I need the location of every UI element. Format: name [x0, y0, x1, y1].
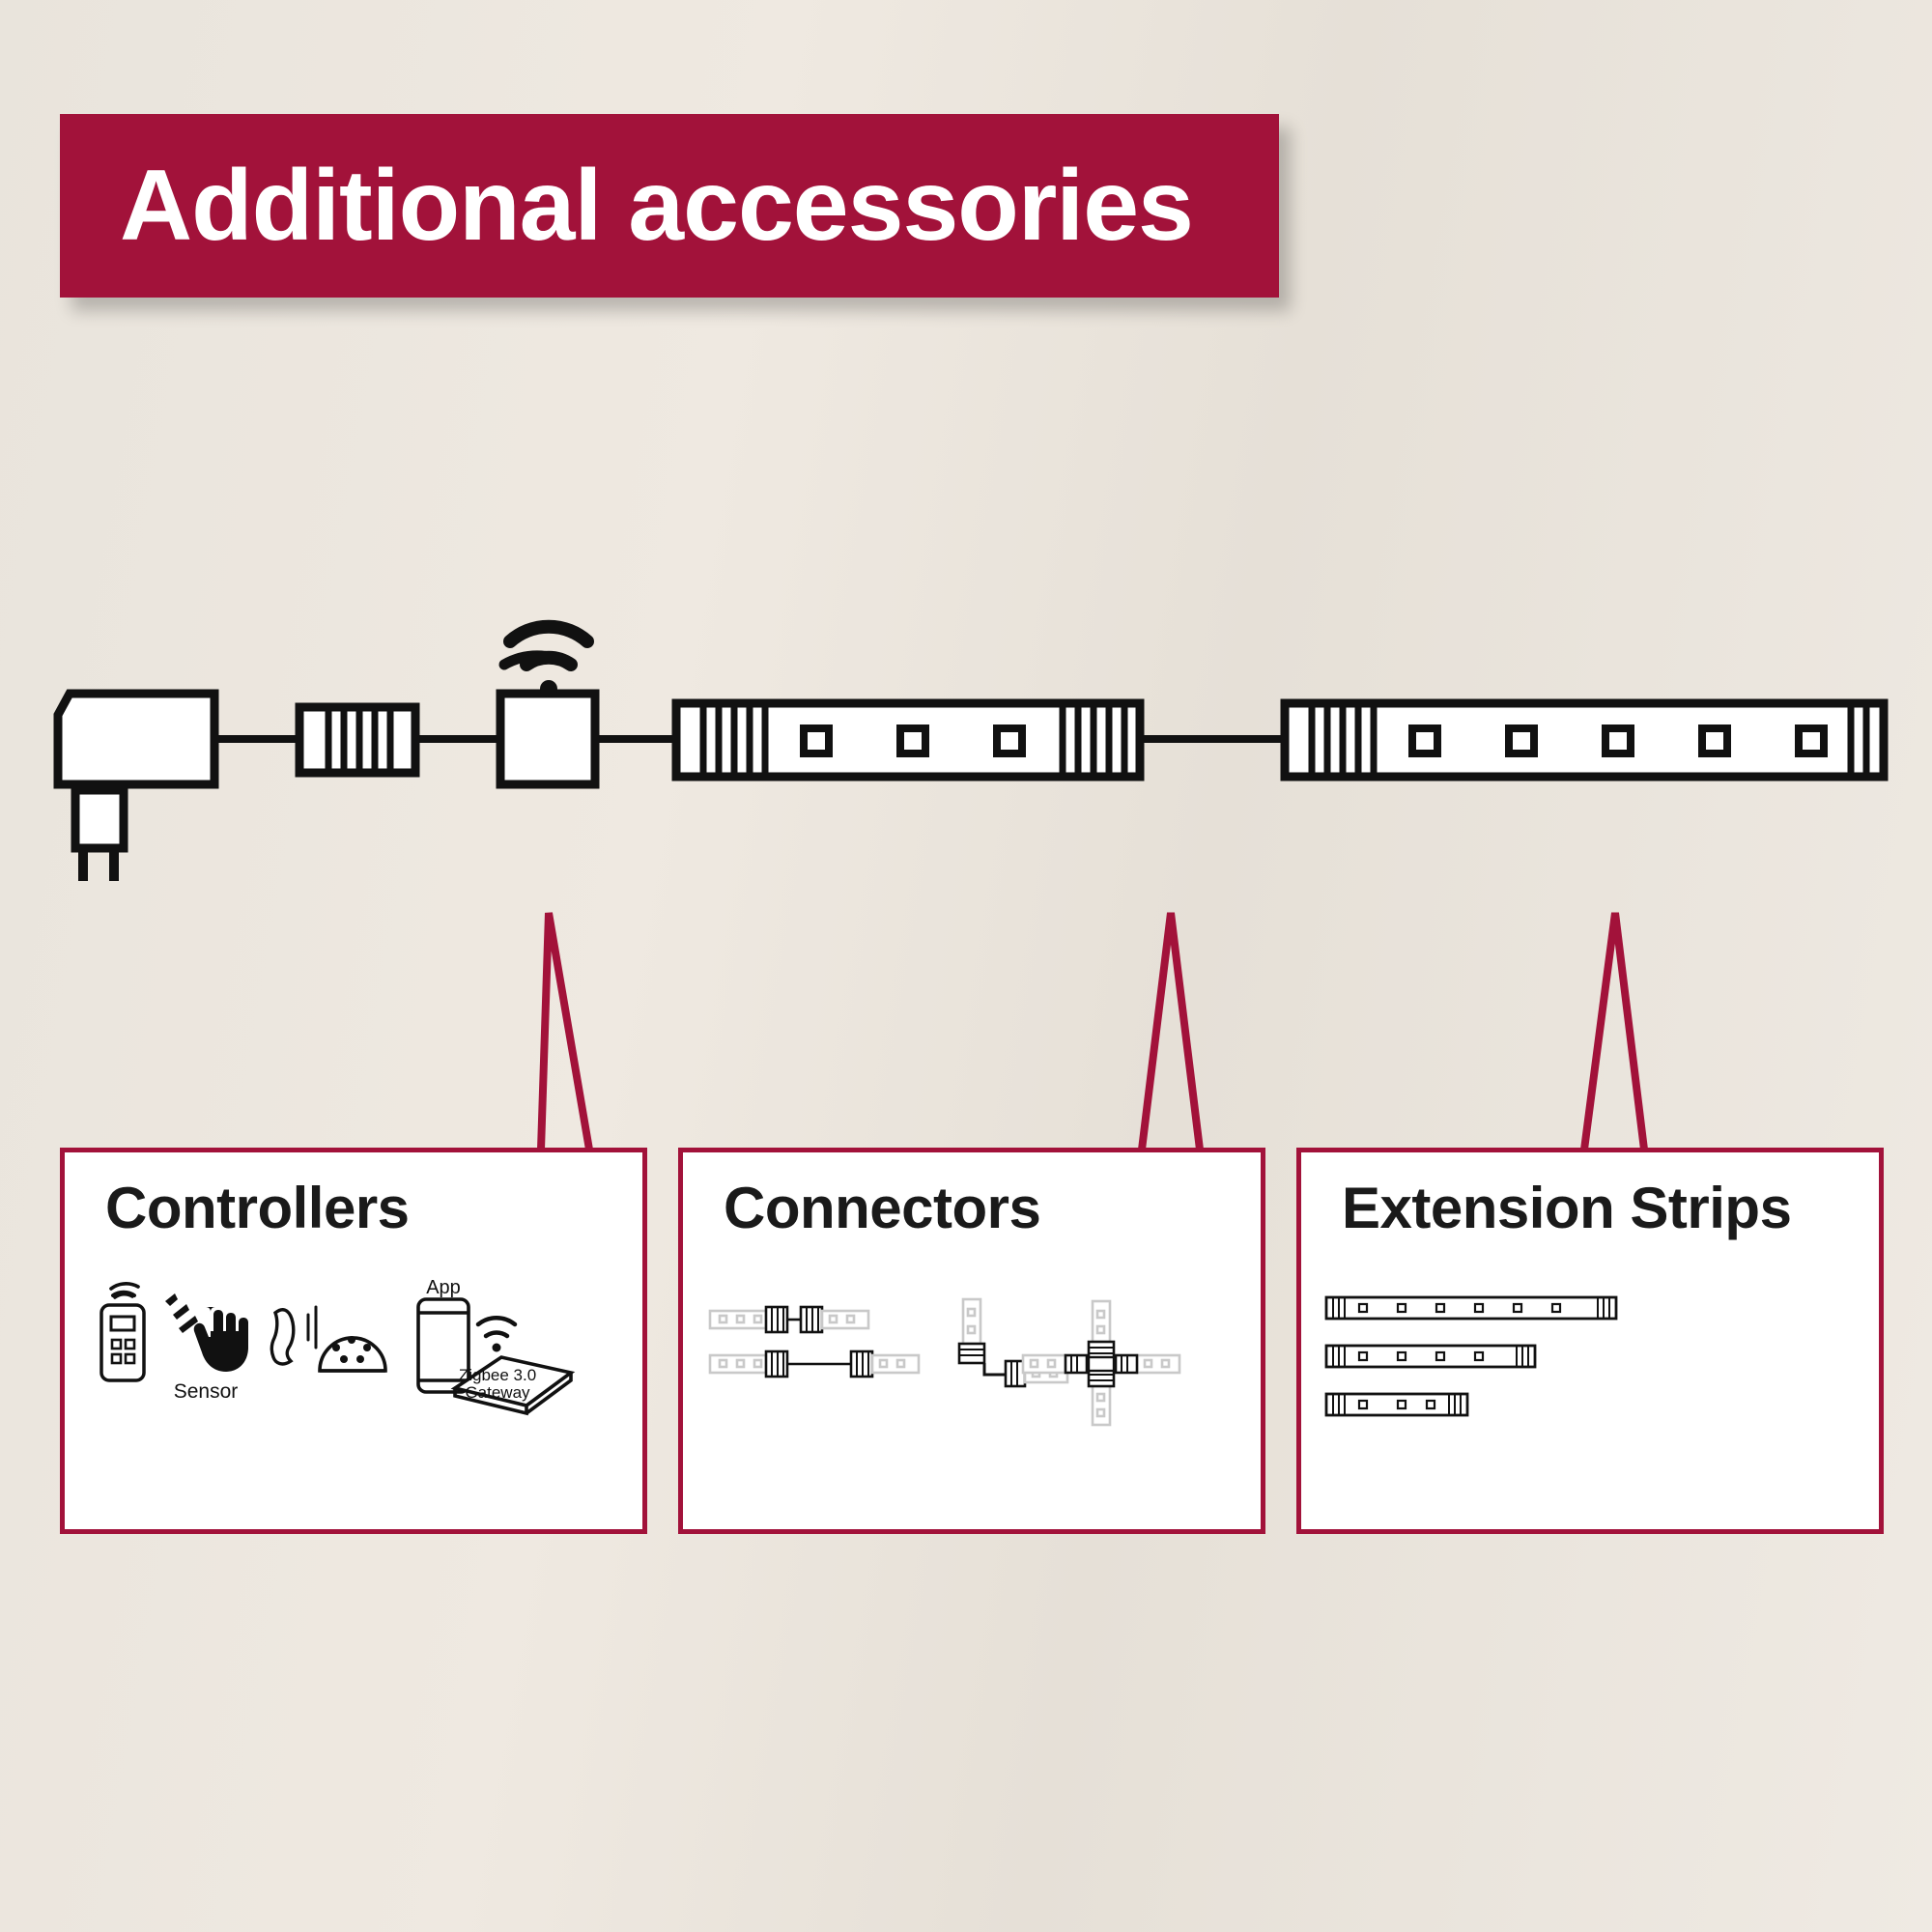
strip-to-strip-cable-connector-icon: [710, 1307, 919, 1377]
gateway-label-line2: Gateway: [465, 1383, 530, 1402]
app-wifi-icon: [478, 1318, 515, 1351]
motion-sensor-hand-icon: [165, 1293, 248, 1372]
extension-strip-long-icon: [1326, 1297, 1616, 1319]
wireless-controller-box: [500, 694, 595, 784]
pointer-strips: [1584, 913, 1644, 1150]
wifi-icon-arcs: [510, 627, 587, 697]
cross-connector-icon: [1023, 1301, 1179, 1425]
callout-body-connectors: [683, 1264, 1261, 1438]
callout-controllers[interactable]: Controllers: [60, 1148, 647, 1534]
callout-extension-strips[interactable]: Extension Strips: [1296, 1148, 1884, 1534]
extension-strip-short-icon: [1326, 1394, 1467, 1415]
callout-title-controllers: Controllers: [105, 1179, 642, 1237]
callout-title-connectors: Connectors: [724, 1179, 1261, 1237]
pointer-controllers: [541, 913, 589, 1150]
power-supply-plug: [58, 694, 214, 881]
title-banner: Additional accessories: [60, 114, 1279, 298]
callout-body-extension-strips: [1301, 1264, 1879, 1438]
extension-strip-medium-icon: [1326, 1346, 1535, 1367]
voice-control-speaker-icon: [271, 1307, 316, 1364]
speaker-device-icon: [320, 1336, 385, 1371]
remote-control-icon: [101, 1284, 149, 1380]
pointer-connectors: [1142, 913, 1200, 1150]
led-strip-segment-1: [676, 703, 1140, 777]
callout-title-extension-strips: Extension Strips: [1342, 1179, 1879, 1237]
gateway-label-line1: Zigbee 3.0: [459, 1366, 536, 1384]
page-title: Additional accessories: [120, 156, 1193, 256]
led-strip-segment-2: [1285, 703, 1884, 777]
sensor-label: Sensor: [174, 1380, 239, 1403]
cable-connector-1: [299, 707, 415, 773]
callout-connectors[interactable]: Connectors: [678, 1148, 1265, 1534]
app-label: App: [426, 1277, 461, 1298]
led-strip-system-chain: [0, 618, 1932, 889]
callout-body-controllers: Sensor App: [65, 1264, 642, 1438]
